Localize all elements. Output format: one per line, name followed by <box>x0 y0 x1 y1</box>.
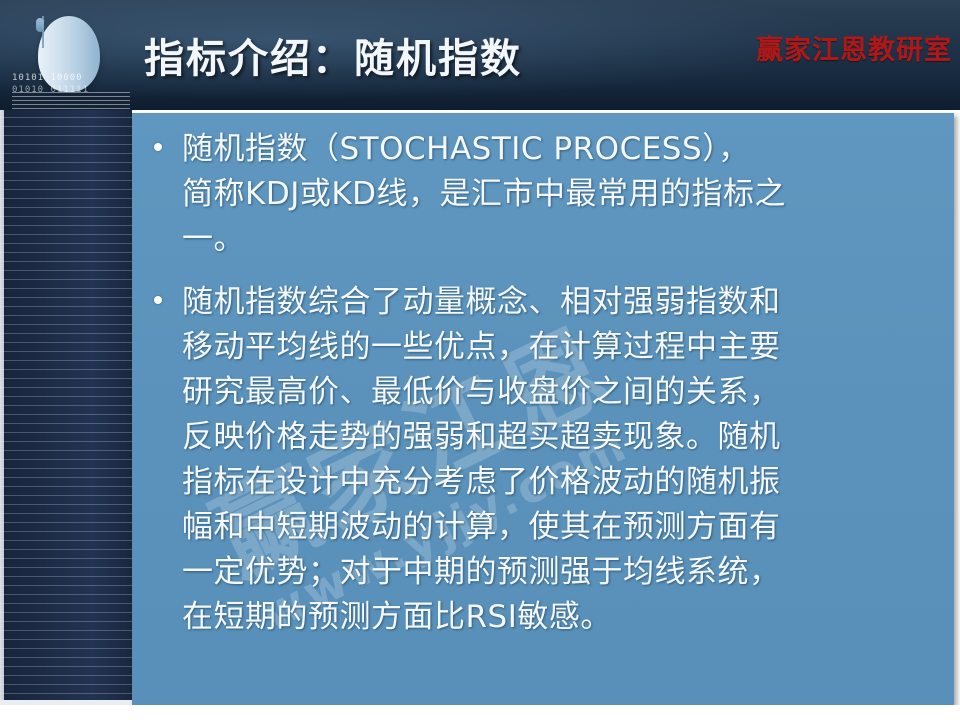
bullet-line: 反映价格走势的强弱和超买超卖现象。随机 <box>182 415 938 460</box>
header-strip-decoration <box>12 92 130 110</box>
slide-root: 10101 10000 01010 011111 指标介绍：随机指数 赢家江恩教… <box>0 0 960 720</box>
page-title: 指标介绍：随机指数 <box>144 26 522 84</box>
bullet-line: 简称KDJ或KD线，是汇市中最常用的指标之 <box>182 172 938 217</box>
bullet-list: 随机指数（STOCHASTIC PROCESS）， 简称KDJ或KD线，是汇市中… <box>140 127 938 640</box>
content-panel: 赢家江恩 www.yjjy.com 随机指数（STOCHASTIC PROCES… <box>132 113 954 705</box>
bullet-line: 随机指数综合了动量概念、相对强弱指数和 <box>182 280 938 325</box>
list-item: 随机指数综合了动量概念、相对强弱指数和 移动平均线的一些优点，在计算过程中主要 … <box>140 280 938 640</box>
bullet-line: 指标在设计中充分考虑了价格波动的随机振 <box>182 460 938 505</box>
bullet-line: 移动平均线的一些优点，在计算过程中主要 <box>182 325 938 370</box>
bullet-line: 一定优势；对于中期的预测强于均线系统， <box>182 550 938 595</box>
mouse-wheel-icon <box>36 18 44 32</box>
bullet-line: 一。 <box>182 217 938 262</box>
brand-watermark: 赢家江恩教研室 <box>756 28 952 67</box>
bullet-line: 研究最高价、最低价与收盘价之间的关系， <box>182 370 938 415</box>
bullet-line: 在短期的预测方面比RSI敏感。 <box>182 595 938 640</box>
bullet-dot-icon <box>154 296 162 304</box>
bullet-dot-icon <box>154 143 162 151</box>
list-item: 随机指数（STOCHASTIC PROCESS）， 简称KDJ或KD线，是汇市中… <box>140 127 938 262</box>
slide-header: 10101 10000 01010 011111 指标介绍：随机指数 赢家江恩教… <box>0 0 960 110</box>
content-inner: 随机指数（STOCHASTIC PROCESS）， 简称KDJ或KD线，是汇市中… <box>132 113 954 705</box>
binary-text-line-1: 10101 10000 <box>12 73 130 84</box>
bullet-line: 幅和中短期波动的计算，使其在预测方面有 <box>182 505 938 550</box>
bullet-line: 随机指数（STOCHASTIC PROCESS）， <box>182 127 938 172</box>
slide-bottom-margin <box>0 705 960 720</box>
